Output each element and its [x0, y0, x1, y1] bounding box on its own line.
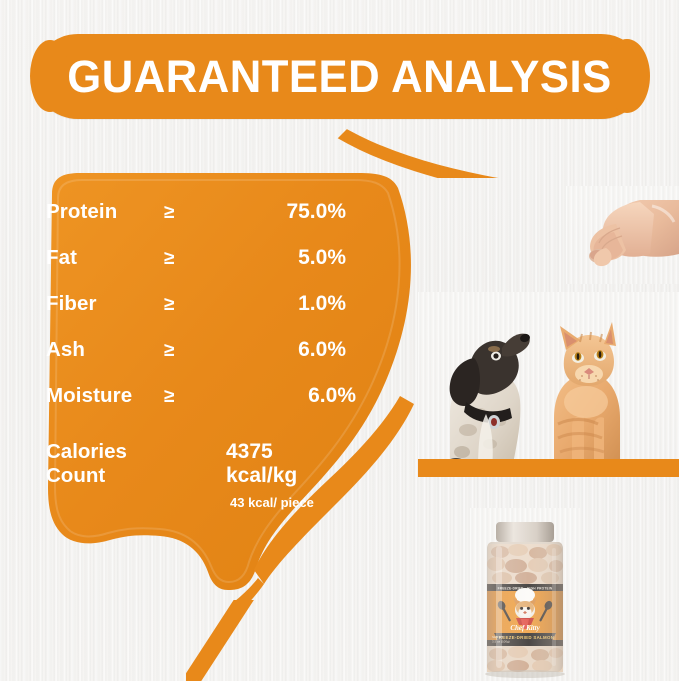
title-banner: GUARANTEED ANALYSIS [34, 34, 645, 119]
table-row: Moisture ≥ 6.0% [46, 384, 356, 430]
greater-or-equal-icon: ≥ [164, 340, 226, 362]
nutrient-value: 6.0% [226, 338, 356, 362]
decorative-tail-stroke [186, 600, 312, 681]
decorative-orange-bar [418, 459, 679, 477]
table-row: Fiber ≥ 1.0% [46, 292, 356, 338]
nutrient-label: Protein [46, 200, 164, 224]
nutrient-label: Moisture [46, 384, 164, 408]
nutrient-value: 1.0% [226, 292, 356, 316]
greater-or-equal-icon: ≥ [164, 386, 226, 408]
greater-or-equal-icon: ≥ [164, 294, 226, 316]
nutrition-table: Protein ≥ 75.0% Fat ≥ 5.0% Fiber ≥ 1.0% … [46, 200, 356, 510]
nutrient-label: Fiber [46, 292, 164, 316]
calories-row: Calories Count 4375 kcal/kg 43 kcal/ pie… [46, 440, 356, 510]
dog-and-cat-photo [418, 292, 679, 469]
calories-unit: kcal/kg [226, 464, 356, 488]
product-infographic: GUARANTEED ANALYSIS [0, 0, 679, 681]
calories-label-line2: Count [46, 464, 226, 488]
nutrient-label: Ash [46, 338, 164, 362]
calories-value-group: 4375 kcal/kg 43 kcal/ piece [226, 440, 356, 510]
table-row: Fat ≥ 5.0% [46, 246, 356, 292]
table-row: Ash ≥ 6.0% [46, 338, 356, 384]
calories-value: 4375 [226, 440, 356, 464]
calories-label: Calories Count [46, 440, 226, 510]
page-title: GUARANTEED ANALYSIS [43, 34, 636, 119]
nutrient-value: 5.0% [226, 246, 356, 270]
greater-or-equal-icon: ≥ [164, 202, 226, 224]
nutrient-value: 75.0% [226, 200, 356, 224]
nutrient-value: 6.0% [226, 384, 356, 408]
hand-with-treat-photo [566, 186, 679, 284]
greater-or-equal-icon: ≥ [164, 248, 226, 270]
calories-per-piece: 43 kcal/ piece [230, 495, 356, 510]
table-row: Protein ≥ 75.0% [46, 200, 356, 246]
calories-label-line1: Calories [46, 440, 226, 464]
product-jar-photo: FREEZE-DRIED • HIGH PROTEIN [470, 508, 580, 681]
nutrient-label: Fat [46, 246, 164, 270]
